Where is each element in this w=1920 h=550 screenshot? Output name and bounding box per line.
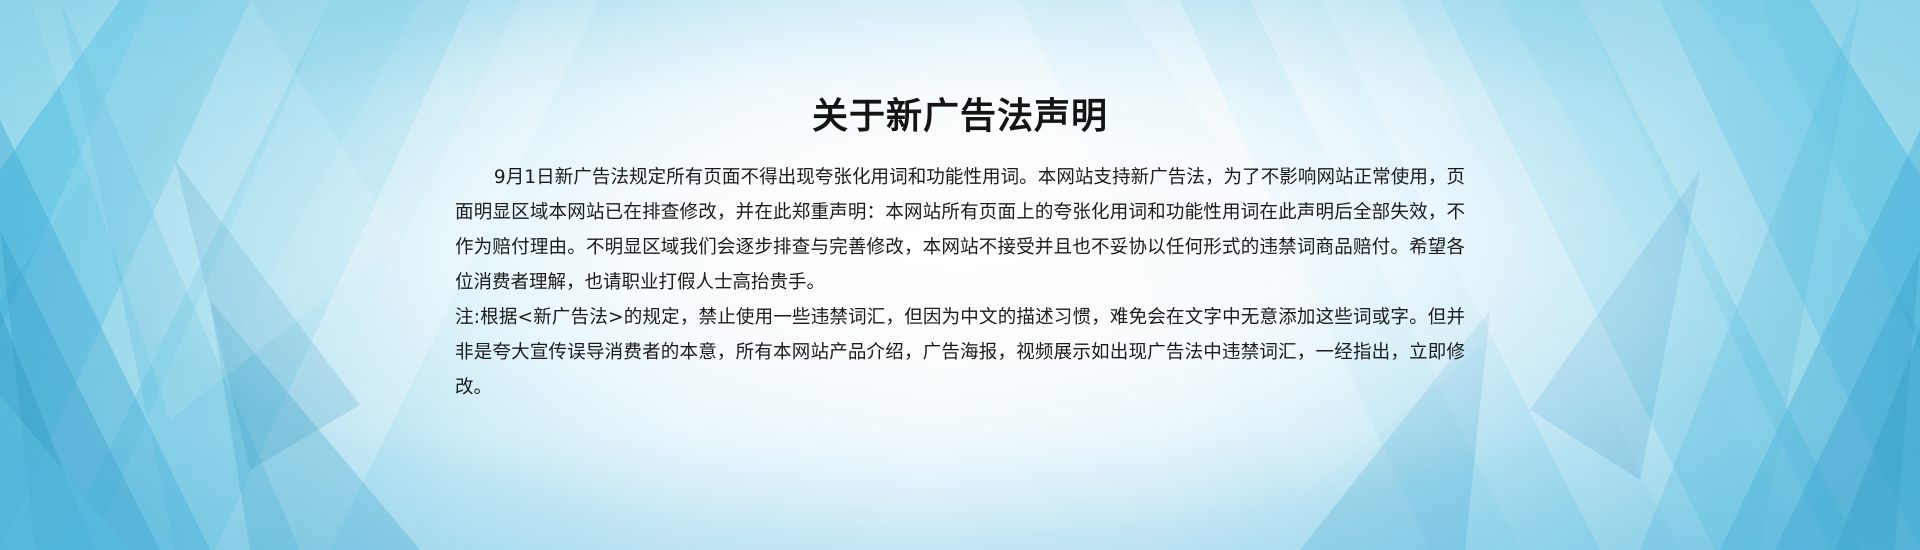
page-title: 关于新广告法声明 xyxy=(455,95,1465,138)
advertising-law-statement: 关于新广告法声明 9月1日新广告法规定所有页面不得出现夸张化用词和功能性用词。本… xyxy=(455,95,1465,405)
statement-note-paragraph: 注:根据<新广告法>的规定，禁止使用一些违禁词汇，但因为中文的描述习惯，难免会在… xyxy=(455,300,1465,405)
statement-body-paragraph: 9月1日新广告法规定所有页面不得出现夸张化用词和功能性用词。本网站支持新广告法，… xyxy=(455,160,1465,300)
banner-content: 关于新广告法声明 9月1日新广告法规定所有页面不得出现夸张化用词和功能性用词。本… xyxy=(0,0,1920,550)
banner-canvas: 关于新广告法声明 9月1日新广告法规定所有页面不得出现夸张化用词和功能性用词。本… xyxy=(0,0,1920,550)
